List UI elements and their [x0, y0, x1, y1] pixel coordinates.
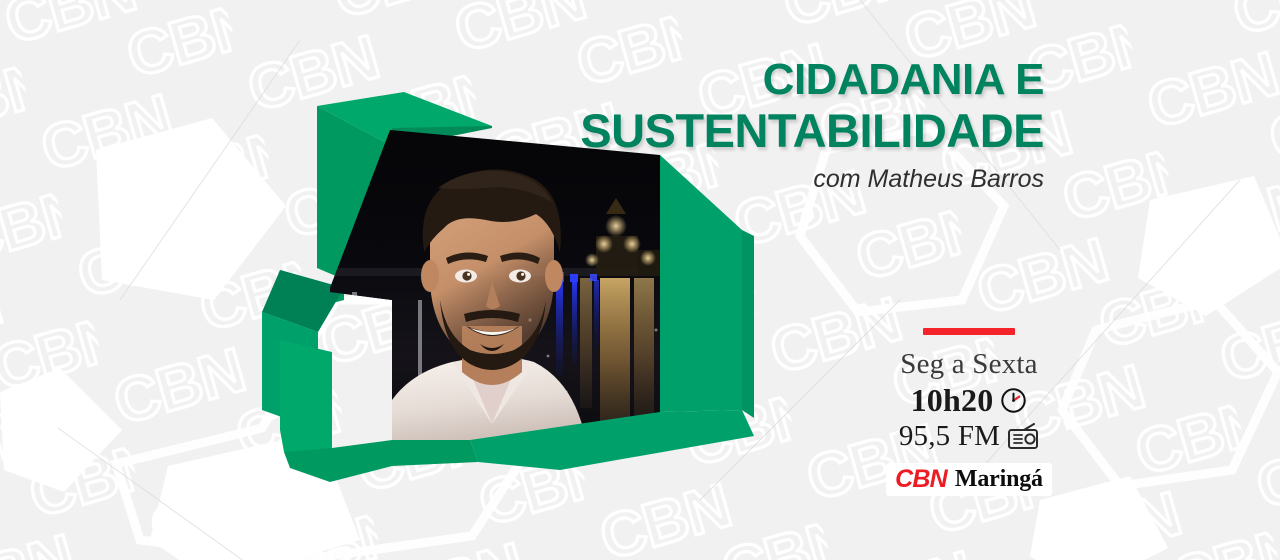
program-title-line-1: CIDADANIA E — [484, 56, 1044, 104]
schedule-time-row: 10h20 — [884, 381, 1054, 419]
schedule-frequency: 95,5 FM — [899, 419, 1000, 454]
cbn-brand-text: CBN — [895, 466, 947, 492]
red-divider-rule — [923, 328, 1015, 335]
radio-icon — [1007, 423, 1039, 451]
station-city-text: Maringá — [955, 466, 1043, 492]
schedule-frequency-row: 95,5 FM — [884, 419, 1054, 454]
program-title-block: CIDADANIA E SUSTENTABILIDADE com Matheus… — [484, 56, 1044, 194]
schedule-days-row: Seg a Sexta — [884, 347, 1054, 381]
cube-side-face-c — [742, 230, 754, 418]
program-host-subtitle: com Matheus Barros — [484, 164, 1044, 194]
schedule-time: 10h20 — [911, 381, 994, 419]
clock-icon — [1000, 387, 1027, 414]
cube-left-face-b — [280, 340, 332, 466]
schedule-days: Seg a Sexta — [900, 347, 1038, 381]
program-title-line-2: SUSTENTABILIDADE — [484, 104, 1044, 158]
schedule-info-block: Seg a Sexta 10h20 95,5 FM — [884, 328, 1054, 496]
cube-bottom-face-c2 — [392, 440, 478, 466]
radio-program-banner: CBN CBN — [0, 0, 1280, 560]
station-logo-lockup: CBN Maringá — [886, 463, 1052, 496]
